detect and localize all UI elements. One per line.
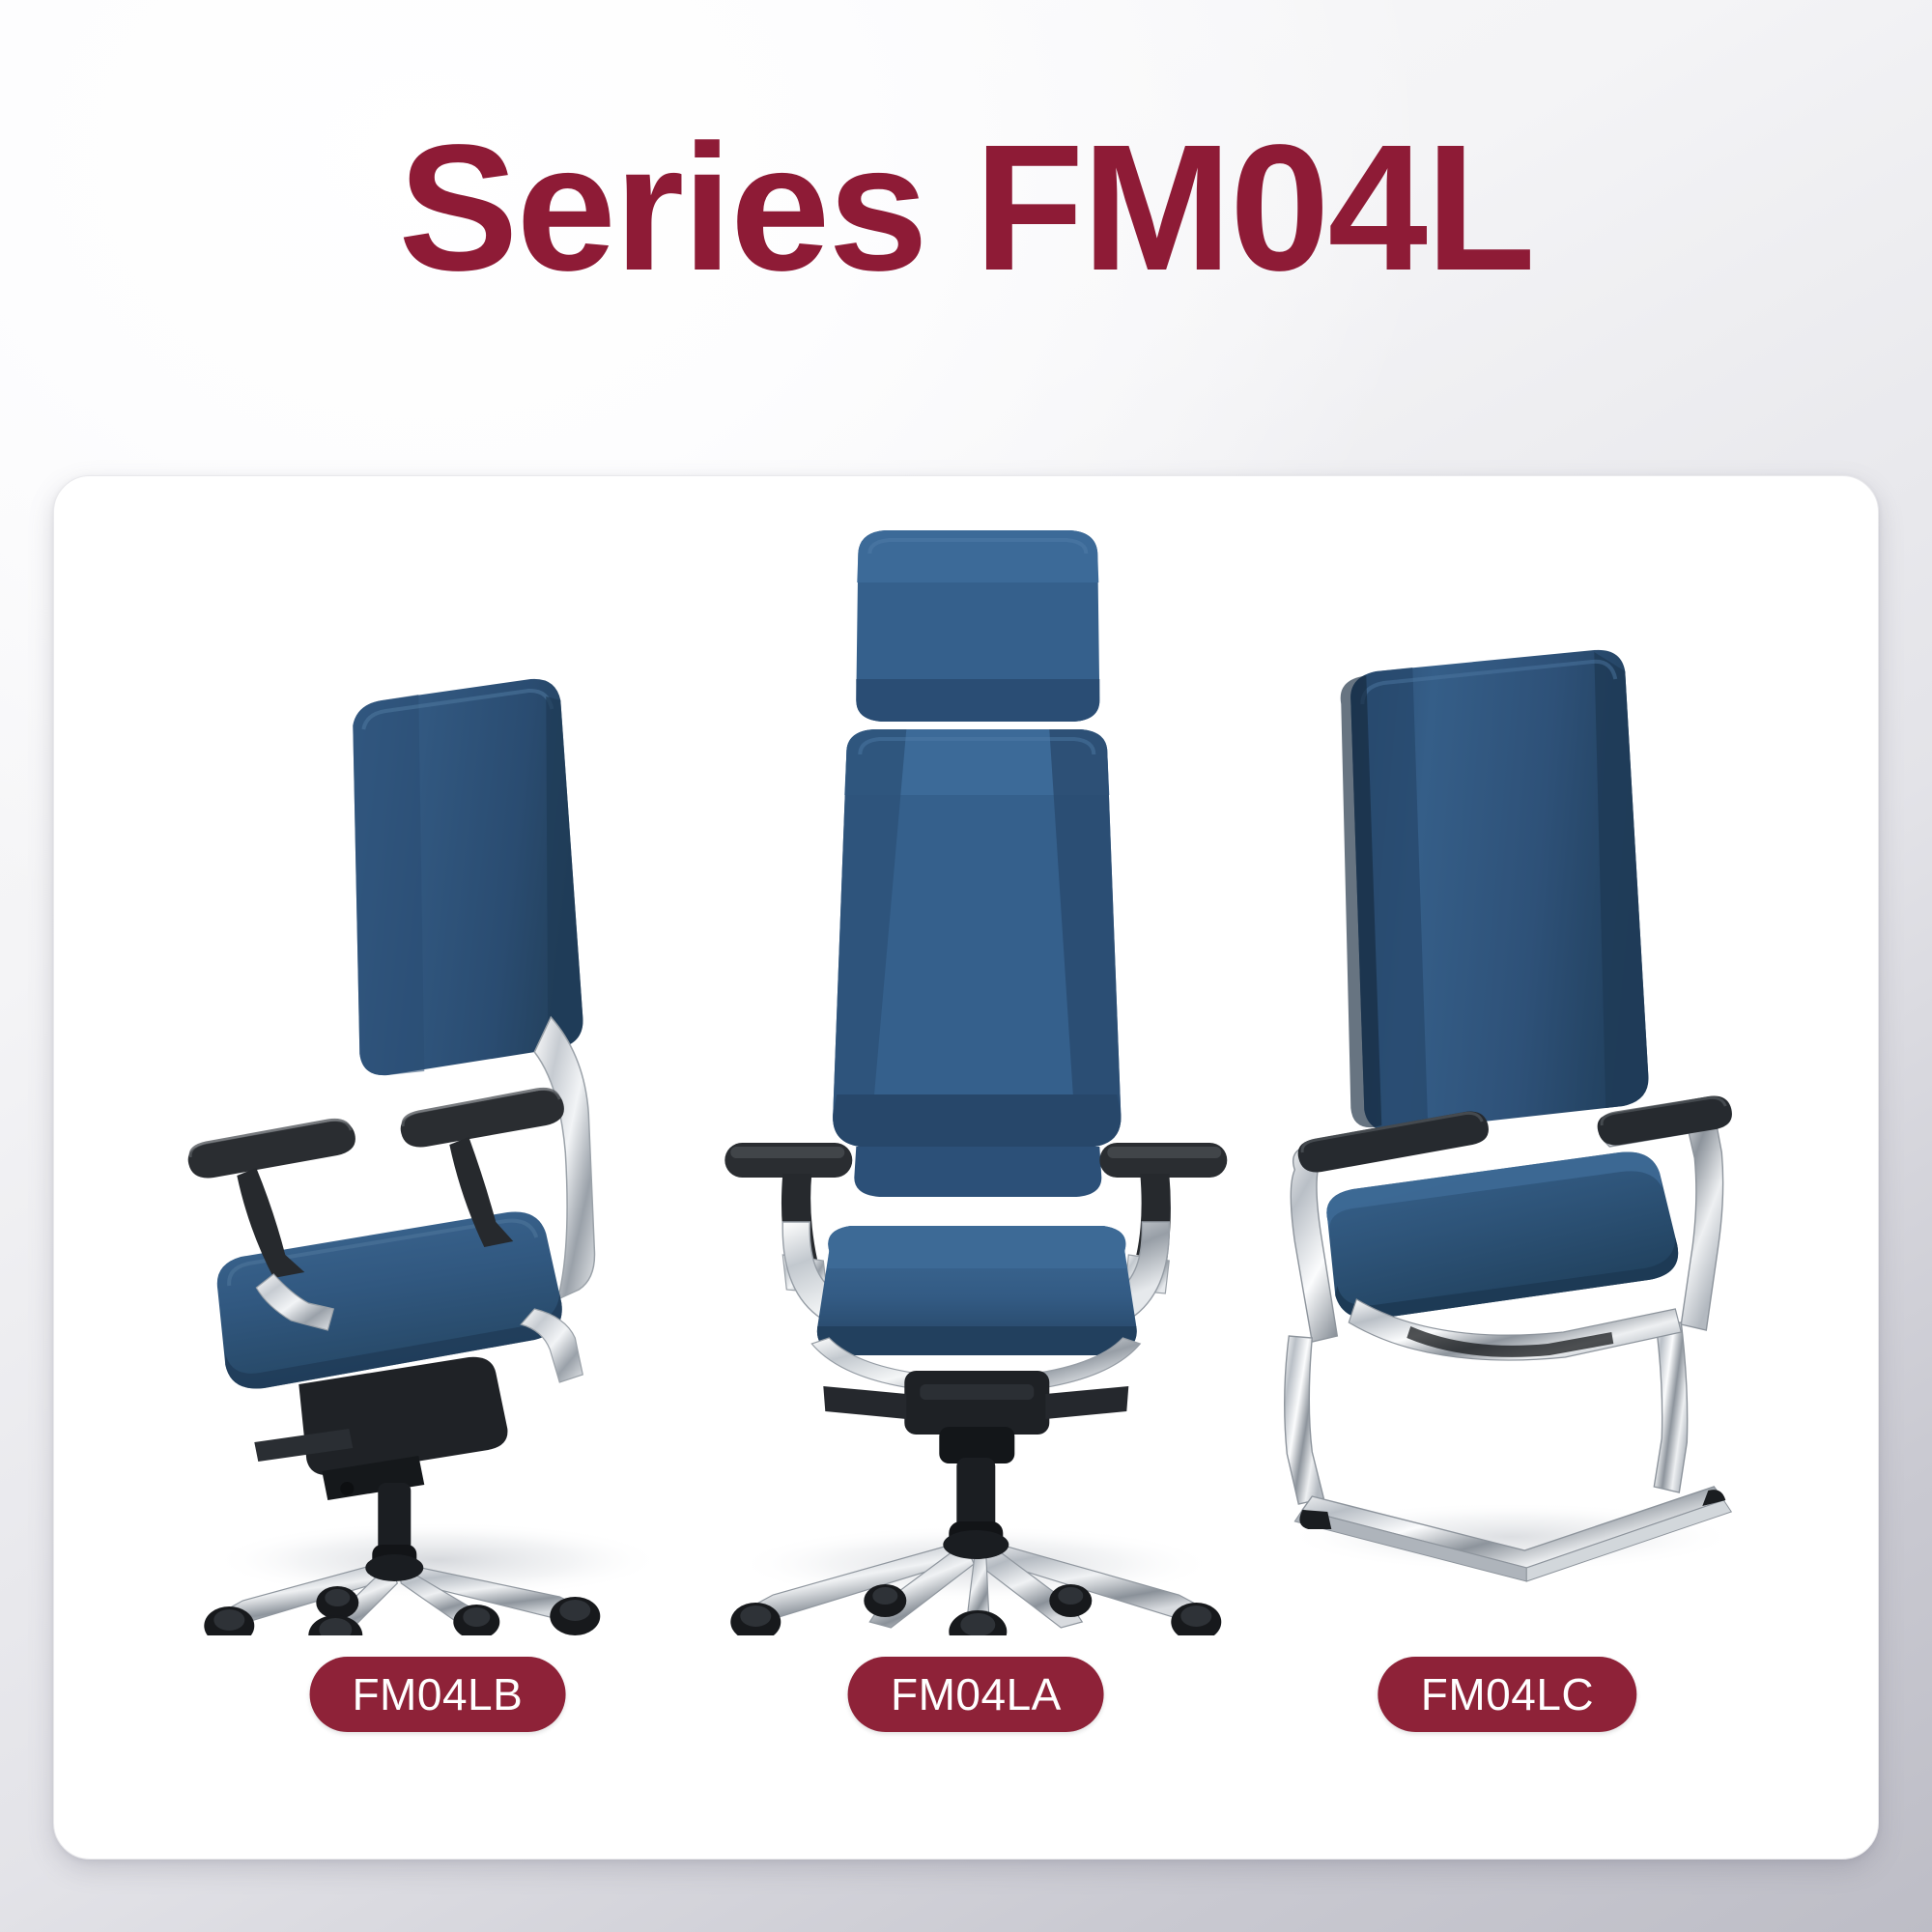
headrest: [856, 530, 1099, 722]
product-image-fm04lb: [128, 476, 749, 1635]
seat-cushion: [1326, 1151, 1678, 1319]
product-image-row: [54, 476, 1880, 1635]
product-image-fm04la: [666, 476, 1287, 1635]
product-image-fm04lc: [1205, 476, 1826, 1635]
chair-illustration-fm04la: [666, 476, 1287, 1635]
page-title: Series FM04L: [0, 114, 1932, 302]
badge-fm04lc[interactable]: FM04LC: [1378, 1657, 1636, 1732]
chair-illustration-fm04lb: [128, 476, 749, 1635]
backrest: [1340, 650, 1648, 1131]
product-showcase-card: FM04LB FM04LA FM04LC: [53, 475, 1879, 1860]
page-title-container: Series FM04L: [0, 114, 1932, 302]
lumbar-pad: [854, 1147, 1101, 1197]
backrest: [833, 729, 1121, 1147]
tilt-mechanism: [823, 1371, 1128, 1463]
product-code-badges: FM04LB FM04LA FM04LC: [54, 1643, 1880, 1749]
chair-illustration-fm04lc: [1205, 476, 1826, 1635]
gas-cylinder: [378, 1483, 411, 1554]
badge-fm04lb[interactable]: FM04LB: [309, 1657, 565, 1732]
seat-back: [353, 679, 582, 1075]
seat-frame-rail: [521, 1309, 582, 1382]
seat-cushion: [817, 1226, 1137, 1355]
badge-fm04la[interactable]: FM04LA: [848, 1657, 1104, 1732]
